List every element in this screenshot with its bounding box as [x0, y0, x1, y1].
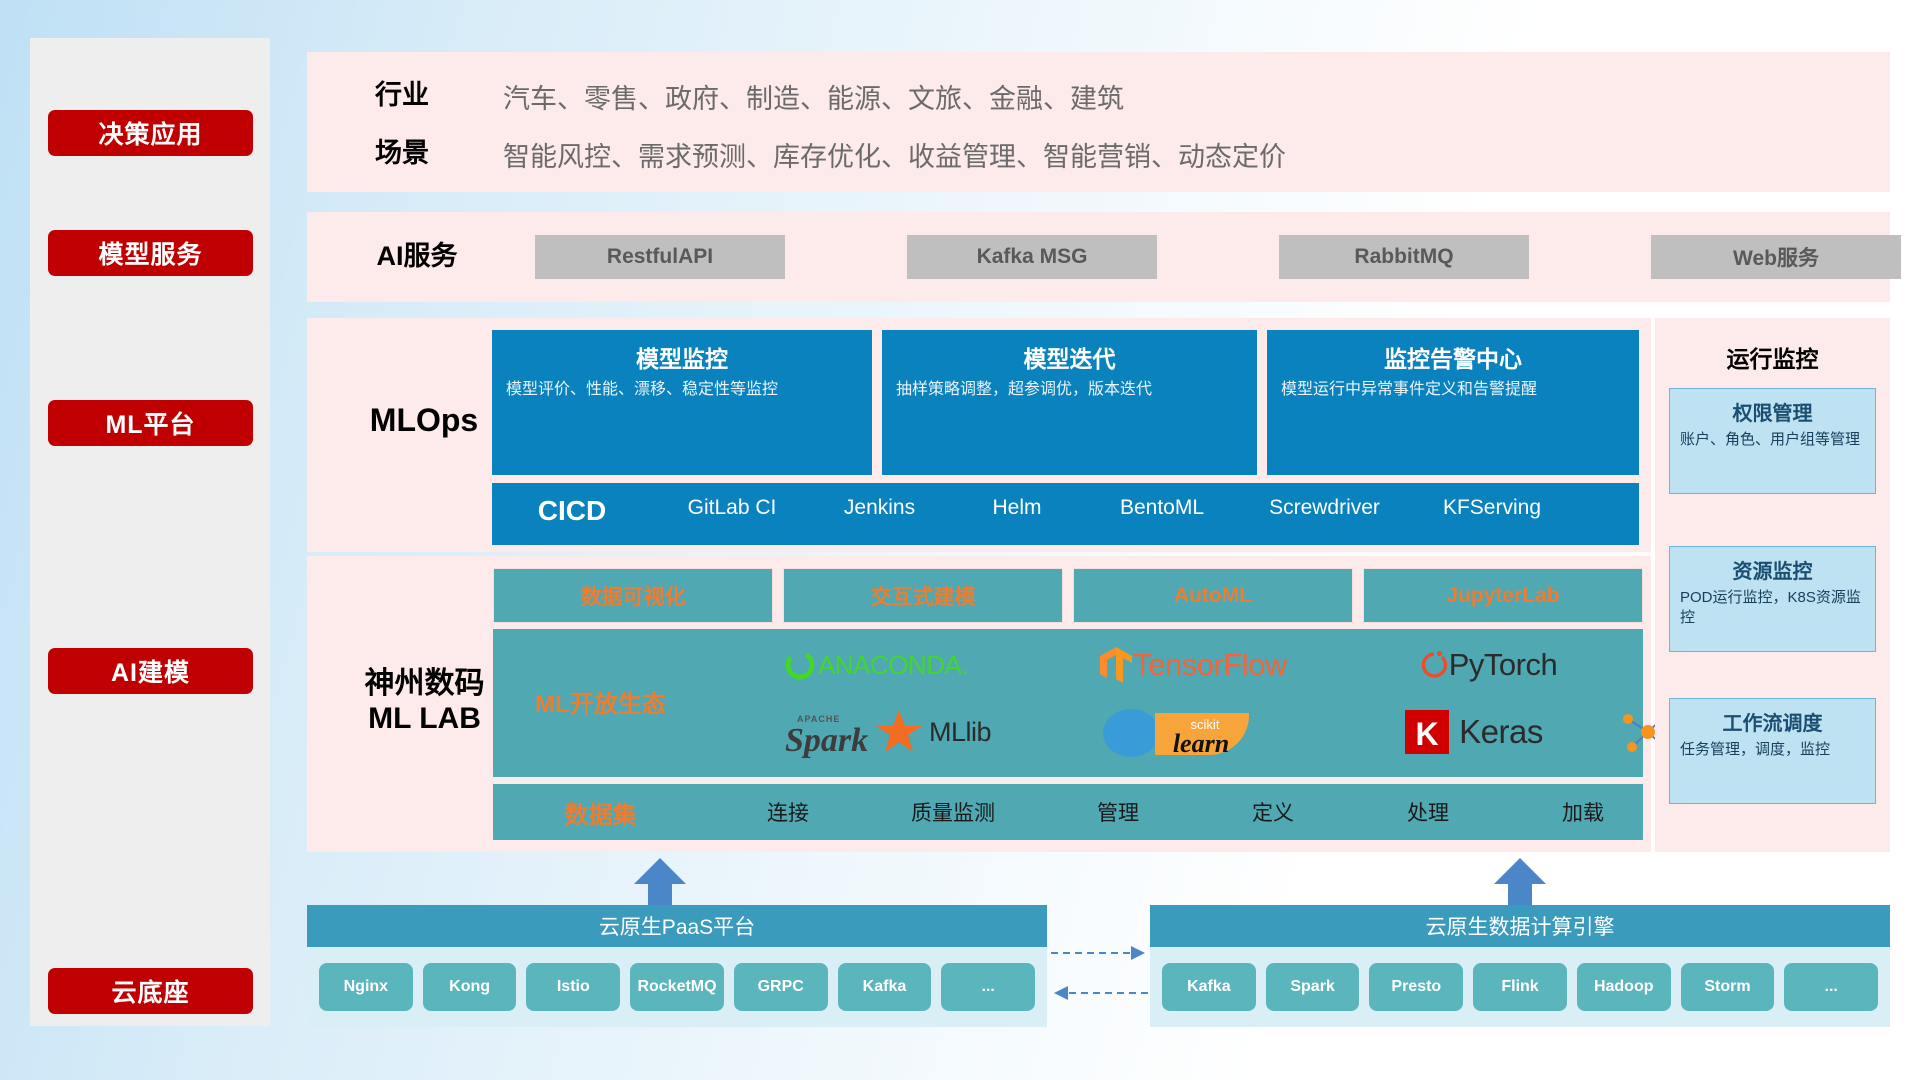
logo-anaconda: ANACONDA. — [725, 637, 1025, 693]
service-chip-web-service[interactable]: Web服务 — [1651, 235, 1901, 279]
card-title: 模型迭代 — [896, 340, 1243, 374]
layer-rail: 决策应用 模型服务 ML平台 AI建模 云底座 — [30, 38, 270, 1026]
dataset-row: 数据集 连接 质量监测 管理 定义 处理 加载 — [493, 784, 1643, 840]
monitor-card-permission[interactable]: 权限管理 账户、角色、用户组等管理 — [1669, 388, 1876, 494]
svg-text:Spark: Spark — [785, 722, 868, 758]
rail-item-model-service[interactable]: 模型服务 — [48, 230, 253, 276]
cloud-chip-kafka[interactable]: Kafka — [838, 963, 932, 1011]
monitor-title: 运行监控 — [1655, 340, 1890, 374]
spark-icon: APACHE Spark — [779, 706, 929, 758]
scenario-label: 场景 — [327, 132, 477, 176]
logo-scikit-learn: scikit learn — [1048, 701, 1328, 763]
scikit-learn-icon: scikit learn — [1093, 703, 1283, 761]
ml-lab-label-line1: 神州数码 — [365, 666, 485, 701]
arrow-up-compute — [1490, 858, 1550, 908]
card-desc: 任务管理，调度，监控 — [1680, 740, 1865, 760]
cloud-chip-kong[interactable]: Kong — [423, 963, 517, 1011]
arrow-up-paas — [630, 858, 690, 908]
cloud-chip-rocketmq[interactable]: RocketMQ — [630, 963, 724, 1011]
cloud-chip-more[interactable]: ... — [941, 963, 1035, 1011]
card-desc: 账户、角色、用户组等管理 — [1680, 430, 1865, 450]
logo-anaconda-text: ANACONDA. — [818, 650, 968, 681]
cicd-item-gitlab-ci[interactable]: GitLab CI — [652, 483, 812, 519]
tab-jupyterlab[interactable]: JupyterLab — [1363, 568, 1643, 623]
cicd-item-kfserving[interactable]: KFServing — [1412, 483, 1572, 519]
logo-pytorch-text: PyTorch — [1449, 647, 1557, 683]
diagram-canvas: 决策应用 模型服务 ML平台 AI建模 云底座 行业 汽车、零售、政府、制造、能… — [0, 0, 1920, 1080]
tab-automl[interactable]: AutoML — [1073, 568, 1353, 623]
tab-data-visualization[interactable]: 数据可视化 — [493, 568, 773, 623]
mlops-label: MLOps — [329, 396, 519, 446]
cloud-chip-grpc[interactable]: GRPC — [734, 963, 828, 1011]
svg-text:learn: learn — [1173, 729, 1229, 758]
svg-text:K: K — [1416, 716, 1439, 752]
cicd-title: CICD — [492, 483, 652, 527]
cloud-chip-istio[interactable]: Istio — [526, 963, 620, 1011]
logo-spark-mllib: APACHE Spark MLlib — [725, 701, 1045, 763]
logo-keras: K Keras — [1348, 701, 1598, 763]
ml-ecosystem-band: ML开放生态 ANACONDA. TensorFlow — [493, 629, 1643, 777]
service-chip-restfulapi[interactable]: RestfulAPI — [535, 235, 785, 279]
card-title: 权限管理 — [1680, 397, 1865, 426]
rail-item-cloud-base[interactable]: 云底座 — [48, 968, 253, 1014]
logo-mllib-text: MLlib — [929, 717, 991, 748]
compute-chip-spark[interactable]: Spark — [1266, 963, 1360, 1011]
rail-item-ml-platform[interactable]: ML平台 — [48, 400, 253, 446]
cloud-chip-nginx[interactable]: Nginx — [319, 963, 413, 1011]
rail-item-ai-modeling[interactable]: AI建模 — [48, 648, 253, 694]
card-title: 监控告警中心 — [1281, 340, 1625, 374]
modeling-band: 神州数码 ML LAB 数据可视化 交互式建模 AutoML JupyterLa… — [307, 556, 1651, 852]
card-title: 模型监控 — [506, 340, 858, 374]
cloud-paas-title: 云原生PaaS平台 — [307, 905, 1047, 947]
dataset-item-connect[interactable]: 连接 — [713, 784, 863, 840]
monitor-card-resource[interactable]: 资源监控 POD运行监控，K8S资源监控 — [1669, 546, 1876, 652]
logo-tensorflow: TensorFlow — [1038, 637, 1348, 693]
card-desc: 抽样策略调整，超参调优，版本迭代 — [896, 380, 1243, 401]
tab-interactive-modeling[interactable]: 交互式建模 — [783, 568, 1063, 623]
mlops-card-alert-center[interactable]: 监控告警中心 模型运行中异常事件定义和告警提醒 — [1267, 330, 1639, 475]
keras-icon: K — [1403, 708, 1451, 756]
cloud-link-arrows — [1047, 935, 1152, 1015]
card-desc: 模型评价、性能、漂移、稳定性等监控 — [506, 380, 858, 401]
cicd-item-jenkins[interactable]: Jenkins — [812, 483, 947, 519]
cloud-paas-chips: Nginx Kong Istio RocketMQ GRPC Kafka ... — [307, 947, 1047, 1027]
mlops-card-model-iteration[interactable]: 模型迭代 抽样策略调整，超参调优，版本迭代 — [882, 330, 1257, 475]
service-chip-rabbitmq[interactable]: RabbitMQ — [1279, 235, 1529, 279]
mlops-card-model-monitoring[interactable]: 模型监控 模型评价、性能、漂移、稳定性等监控 — [492, 330, 872, 475]
compute-chip-storm[interactable]: Storm — [1681, 963, 1775, 1011]
service-chip-kafka-msg[interactable]: Kafka MSG — [907, 235, 1157, 279]
cloud-compute-title: 云原生数据计算引擎 — [1150, 905, 1890, 947]
scenario-value: 智能风控、需求预测、库存优化、收益管理、智能营销、动态定价 — [503, 132, 1873, 176]
industry-value: 汽车、零售、政府、制造、能源、文旅、金融、建筑 — [503, 74, 1843, 118]
compute-chip-kafka[interactable]: Kafka — [1162, 963, 1256, 1011]
compute-chip-hadoop[interactable]: Hadoop — [1577, 963, 1671, 1011]
dataset-item-loading[interactable]: 加载 — [1508, 784, 1658, 840]
tensorflow-icon — [1099, 646, 1133, 684]
ml-ecosystem-label: ML开放生态 — [493, 671, 708, 731]
dataset-item-processing[interactable]: 处理 — [1353, 784, 1503, 840]
cloud-paas-panel: 云原生PaaS平台 Nginx Kong Istio RocketMQ GRPC… — [307, 905, 1047, 1027]
ml-lab-label-line2: ML LAB — [365, 701, 485, 736]
cicd-item-helm[interactable]: Helm — [947, 483, 1087, 519]
dataset-item-definition[interactable]: 定义 — [1198, 784, 1348, 840]
cicd-bar: CICD GitLab CI Jenkins Helm BentoML Scre… — [492, 483, 1639, 545]
logo-pytorch: PyTorch — [1363, 637, 1613, 693]
card-title: 工作流调度 — [1680, 707, 1865, 736]
cicd-item-screwdriver[interactable]: Screwdriver — [1237, 483, 1412, 519]
card-desc: 模型运行中异常事件定义和告警提醒 — [1281, 380, 1625, 401]
compute-chip-flink[interactable]: Flink — [1473, 963, 1567, 1011]
cloud-compute-chips: Kafka Spark Presto Flink Hadoop Storm ..… — [1150, 947, 1890, 1027]
dataset-item-quality-monitoring[interactable]: 质量监测 — [868, 784, 1038, 840]
card-desc: POD运行监控，K8S资源监控 — [1680, 588, 1865, 627]
ai-service-label: AI服务 — [337, 234, 497, 280]
compute-chip-presto[interactable]: Presto — [1369, 963, 1463, 1011]
monitor-column: 运行监控 权限管理 账户、角色、用户组等管理 资源监控 POD运行监控，K8S资… — [1655, 318, 1890, 852]
logo-tensorflow-text: TensorFlow — [1133, 647, 1287, 683]
cicd-item-bentoml[interactable]: BentoML — [1087, 483, 1237, 519]
dataset-item-management[interactable]: 管理 — [1043, 784, 1193, 840]
dataset-label: 数据集 — [493, 784, 708, 840]
monitor-card-workflow[interactable]: 工作流调度 任务管理，调度，监控 — [1669, 698, 1876, 804]
logo-keras-text: Keras — [1459, 713, 1543, 751]
rail-item-decision-app[interactable]: 决策应用 — [48, 110, 253, 156]
mlops-band: MLOps 模型监控 模型评价、性能、漂移、稳定性等监控 模型迭代 抽样策略调整… — [307, 318, 1651, 552]
ai-service-band: AI服务 RestfulAPI Kafka MSG RabbitMQ Web服务 — [307, 212, 1890, 302]
pytorch-icon — [1419, 648, 1449, 682]
industry-label: 行业 — [327, 74, 477, 118]
cloud-compute-panel: 云原生数据计算引擎 Kafka Spark Presto Flink Hadoo… — [1150, 905, 1890, 1027]
decision-app-band: 行业 汽车、零售、政府、制造、能源、文旅、金融、建筑 场景 智能风控、需求预测、… — [307, 52, 1890, 192]
anaconda-icon — [782, 647, 818, 683]
card-title: 资源监控 — [1680, 555, 1865, 584]
compute-chip-more[interactable]: ... — [1784, 963, 1878, 1011]
